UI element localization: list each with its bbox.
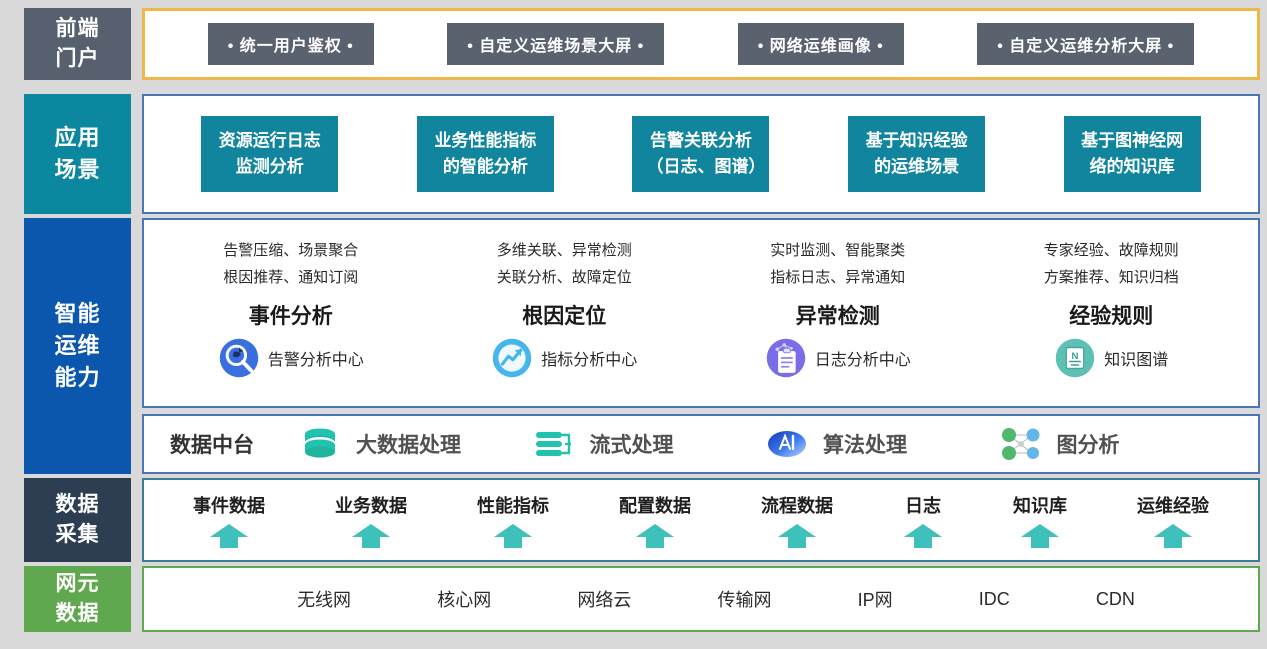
row-frontend-portal: 前端 门户 • 统一用户鉴权 • • 自定义运维场景大屏 • • 网络运维画像 … [24, 8, 1260, 80]
app-chip-line-1: 告警关联分析 [646, 128, 755, 154]
app-chip-knowledge-based-ops[interactable]: 基于知识经验 的运维场景 [848, 116, 985, 193]
up-arrow-icon [903, 523, 943, 549]
app-chip-line-2: 监测分析 [215, 154, 324, 180]
up-arrow-icon [1153, 523, 1193, 549]
collect-item-label: 事件数据 [193, 492, 265, 518]
app-chip-business-kpi-intelligent-analysis[interactable]: 业务性能指标 的智能分析 [417, 116, 554, 193]
up-arrow-icon [493, 523, 533, 549]
capability-bullet-2: 关联分析、故障定位 [438, 265, 690, 292]
row-label-frontend-portal: 前端 门户 [24, 8, 131, 80]
up-arrow-icon [351, 523, 391, 549]
collect-item-logs[interactable]: 日志 [903, 492, 943, 549]
collect-item-label: 日志 [905, 492, 941, 518]
row-label-network-element-data: 网元 数据 [24, 566, 131, 632]
capability-center-name[interactable]: 知识图谱 [1104, 346, 1168, 370]
collect-item-event-data[interactable]: 事件数据 [193, 492, 265, 549]
network-element-panel: 无线网 核心网 网络云 传输网 IP网 IDC CDN [142, 566, 1260, 632]
collect-item-knowledge-base[interactable]: 知识库 [1013, 492, 1067, 549]
trend-arrow-icon [491, 337, 533, 379]
data-middle-platform-title: 数据中台 [170, 429, 254, 459]
collect-item-performance-kpi[interactable]: 性能指标 [477, 492, 549, 549]
collect-item-label: 性能指标 [477, 492, 549, 518]
portal-chip-network-ops-profile[interactable]: • 网络运维画像 • [738, 23, 904, 65]
ne-item-cdn[interactable]: CDN [1096, 589, 1135, 610]
capability-bullet-2: 根因推荐、通知订阅 [165, 265, 417, 292]
data-platform-item-algorithm[interactable]: 算法处理 [765, 424, 999, 464]
capability-anomaly-detection: 实时监测、智能聚类 指标日志、异常通知 异常检测 [712, 238, 964, 379]
ne-item-idc[interactable]: IDC [979, 589, 1010, 610]
capability-title: 经验规则 [985, 300, 1237, 330]
data-platform-item-graph[interactable]: 图分析 [999, 424, 1233, 464]
row-label-line-2: 数据 [56, 599, 100, 629]
capability-center-name[interactable]: 日志分析中心 [815, 346, 911, 370]
graph-icon [999, 424, 1043, 464]
collect-item-config-data[interactable]: 配置数据 [619, 492, 691, 549]
row-label-data-collection: 数据 采集 [24, 478, 131, 562]
capability-bullet-1: 实时监测、智能聚类 [712, 238, 964, 265]
collect-item-label: 流程数据 [761, 492, 833, 518]
row-label-line-3: 能力 [54, 362, 100, 394]
capability-title: 异常检测 [712, 300, 964, 330]
capability-title: 事件分析 [165, 300, 417, 330]
ne-item-wireless-network[interactable]: 无线网 [297, 586, 351, 612]
row-application-scenarios: 应用 场景 资源运行日志 监测分析 业务性能指标 的智能分析 告警关联分析 （日… [24, 94, 1260, 214]
application-scenarios-panel: 资源运行日志 监测分析 业务性能指标 的智能分析 告警关联分析 （日志、图谱） … [142, 94, 1260, 214]
knowledge-doc-icon: N [1054, 337, 1096, 379]
row-label-aiops-capability: 智能 运维 能力 [24, 218, 131, 474]
row-label-line-2: 运维 [54, 330, 100, 362]
row-label-line-1: 前端 [56, 14, 100, 44]
capability-bullet-2: 指标日志、异常通知 [712, 265, 964, 292]
collect-item-process-data[interactable]: 流程数据 [761, 492, 833, 549]
ne-item-network-cloud[interactable]: 网络云 [577, 586, 631, 612]
collect-item-label: 配置数据 [619, 492, 691, 518]
clipboard-log-icon [765, 337, 807, 379]
app-chip-line-2: 的智能分析 [431, 154, 540, 180]
capability-center-name[interactable]: 告警分析中心 [268, 346, 364, 370]
portal-chip-custom-ops-dashboard[interactable]: • 自定义运维场景大屏 • [447, 23, 664, 65]
data-middle-platform-panel: 数据中台 大数据处理 [142, 414, 1260, 474]
alert-search-icon [218, 337, 260, 379]
up-arrow-icon [209, 523, 249, 549]
row-label-line-1: 数据 [56, 490, 100, 520]
row-data-collection: 数据 采集 事件数据 业务数据 性能指标 [24, 478, 1260, 562]
row-label-line-2: 场景 [54, 154, 100, 186]
capability-root-cause-location: 多维关联、异常检测 关联分析、故障定位 根因定位 指标分析中心 [438, 238, 690, 379]
capability-center-name[interactable]: 指标分析中心 [541, 346, 637, 370]
up-arrow-icon [777, 523, 817, 549]
ne-item-ip-network[interactable]: IP网 [858, 586, 893, 612]
app-chip-line-1: 资源运行日志 [215, 128, 324, 154]
app-chip-line-1: 基于图神经网 [1078, 128, 1187, 154]
ai-icon [765, 424, 809, 464]
data-platform-item-label: 算法处理 [823, 429, 907, 459]
aiops-stack: 告警压缩、场景聚合 根因推荐、通知订阅 事件分析 告警分析中心 [142, 218, 1260, 474]
row-label-line-1: 应用 [54, 122, 100, 154]
data-platform-item-stream[interactable]: 流式处理 [532, 424, 766, 464]
data-platform-item-bigdata[interactable]: 大数据处理 [298, 424, 532, 464]
app-chip-line-1: 业务性能指标 [431, 128, 540, 154]
aiops-capability-panel: 告警压缩、场景聚合 根因推荐、通知订阅 事件分析 告警分析中心 [142, 218, 1260, 408]
row-label-application-scenarios: 应用 场景 [24, 94, 131, 214]
up-arrow-icon [635, 523, 675, 549]
stream-icon [532, 424, 576, 464]
ne-item-transport-network[interactable]: 传输网 [717, 586, 771, 612]
app-chip-line-2: （日志、图谱） [646, 154, 755, 180]
collect-item-business-data[interactable]: 业务数据 [335, 492, 407, 549]
collect-item-ops-experience[interactable]: 运维经验 [1137, 492, 1209, 549]
capability-bullet-2: 方案推荐、知识归档 [985, 265, 1237, 292]
row-aiops-capability: 智能 运维 能力 告警压缩、场景聚合 根因推荐、通知订阅 事件分析 [24, 218, 1260, 474]
app-chip-alarm-correlation-analysis[interactable]: 告警关联分析 （日志、图谱） [632, 116, 769, 193]
capability-title: 根因定位 [438, 300, 690, 330]
app-chip-line-2: 的运维场景 [862, 154, 971, 180]
row-network-element-data: 网元 数据 无线网 核心网 网络云 传输网 IP网 IDC CDN [24, 566, 1260, 632]
capability-bullet-1: 告警压缩、场景聚合 [165, 238, 417, 265]
row-label-line-2: 门户 [56, 44, 100, 74]
data-collection-panel: 事件数据 业务数据 性能指标 配置数据 [142, 478, 1260, 562]
frontend-portal-panel: • 统一用户鉴权 • • 自定义运维场景大屏 • • 网络运维画像 • • 自定… [142, 8, 1260, 80]
data-platform-item-label: 流式处理 [590, 429, 674, 459]
capability-event-analysis: 告警压缩、场景聚合 根因推荐、通知订阅 事件分析 告警分析中心 [165, 238, 417, 379]
ne-item-core-network[interactable]: 核心网 [437, 586, 491, 612]
portal-chip-unified-auth[interactable]: • 统一用户鉴权 • [208, 23, 374, 65]
up-arrow-icon [1020, 523, 1060, 549]
capability-bullet-1: 专家经验、故障规则 [985, 238, 1237, 265]
architecture-diagram: 前端 门户 • 统一用户鉴权 • • 自定义运维场景大屏 • • 网络运维画像 … [0, 0, 1267, 649]
collect-item-label: 知识库 [1013, 492, 1067, 518]
app-chip-resource-log-monitoring[interactable]: 资源运行日志 监测分析 [201, 116, 338, 193]
collect-item-label: 业务数据 [335, 492, 407, 518]
row-label-line-1: 网元 [56, 569, 100, 599]
collect-item-label: 运维经验 [1137, 492, 1209, 518]
data-platform-item-label: 大数据处理 [356, 429, 461, 459]
app-chip-gnn-knowledge-base[interactable]: 基于图神经网 络的知识库 [1064, 116, 1201, 193]
app-chip-line-1: 基于知识经验 [862, 128, 971, 154]
row-label-line-2: 采集 [56, 520, 100, 550]
app-chip-line-2: 络的知识库 [1078, 154, 1187, 180]
row-label-line-1: 智能 [54, 298, 100, 330]
database-icon [298, 424, 342, 464]
capability-bullet-1: 多维关联、异常检测 [438, 238, 690, 265]
capability-experience-rules: 专家经验、故障规则 方案推荐、知识归档 经验规则 N 知识图谱 [985, 238, 1237, 379]
portal-chip-custom-analysis-dashboard[interactable]: • 自定义运维分析大屏 • [977, 23, 1194, 65]
data-platform-item-label: 图分析 [1057, 429, 1120, 459]
svg-text:N: N [1072, 351, 1079, 362]
